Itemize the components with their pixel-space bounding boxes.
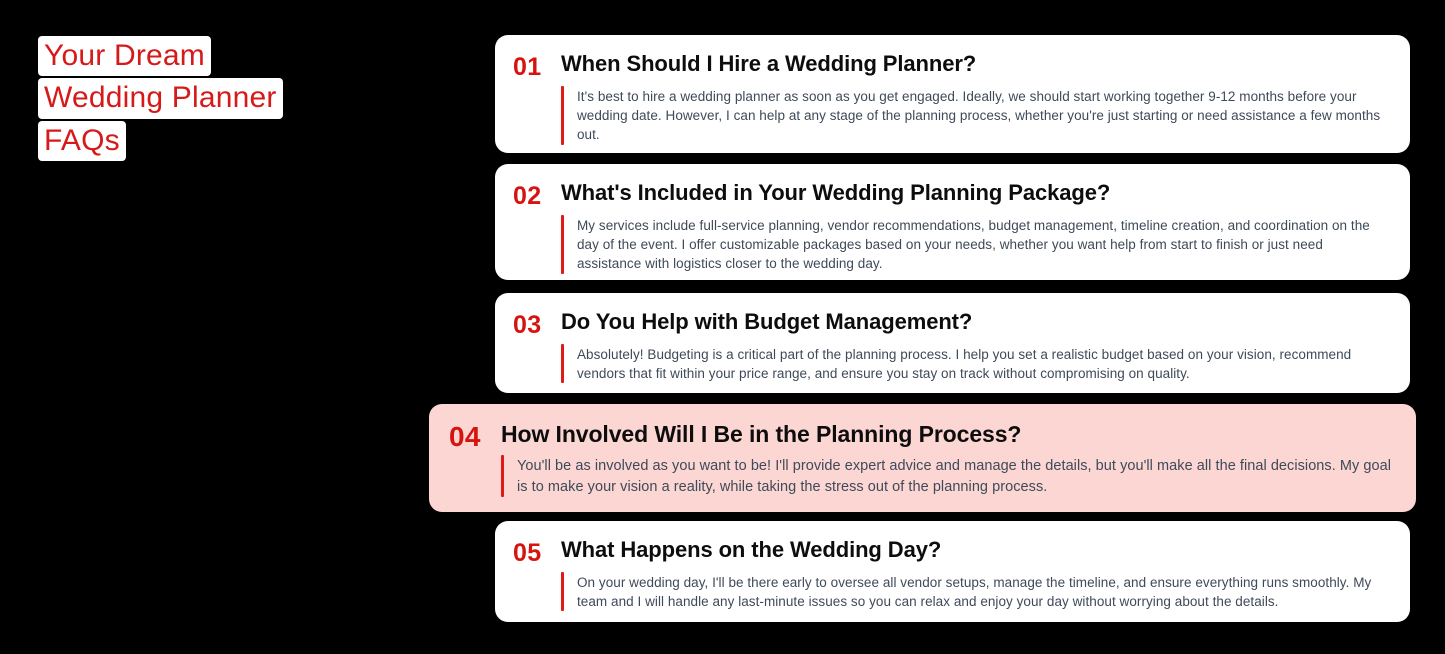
faq-answer: It's best to hire a wedding planner as s… (577, 86, 1388, 145)
faq-item-04[interactable]: 04 How Involved Will I Be in the Plannin… (429, 404, 1416, 512)
accent-bar-icon (561, 86, 564, 145)
faq-answer: Absolutely! Budgeting is a critical part… (577, 344, 1388, 384)
accent-bar-icon (561, 344, 564, 384)
faq-question[interactable]: When Should I Hire a Wedding Planner? (561, 51, 1388, 78)
faq-item-03[interactable]: 03 Do You Help with Budget Management? A… (495, 293, 1410, 393)
faq-question[interactable]: How Involved Will I Be in the Planning P… (501, 420, 1392, 448)
faq-item-01[interactable]: 01 When Should I Hire a Wedding Planner?… (495, 35, 1410, 153)
faq-item-02[interactable]: 02 What's Included in Your Wedding Plann… (495, 164, 1410, 280)
faq-answer-wrap: You'll be as involved as you want to be!… (501, 455, 1392, 497)
faq-answer: On your wedding day, I'll be there early… (577, 572, 1388, 612)
faq-number: 02 (513, 180, 561, 209)
faq-content: How Involved Will I Be in the Planning P… (501, 420, 1392, 497)
accent-bar-icon (501, 455, 504, 497)
faq-answer: You'll be as involved as you want to be!… (517, 455, 1392, 497)
faq-number: 04 (449, 420, 501, 451)
faq-question[interactable]: Do You Help with Budget Management? (561, 309, 1388, 336)
faq-item-05[interactable]: 05 What Happens on the Wedding Day? On y… (495, 521, 1410, 622)
faq-answer-wrap: It's best to hire a wedding planner as s… (561, 86, 1388, 145)
faq-list: 01 When Should I Hire a Wedding Planner?… (0, 0, 1445, 654)
faq-number: 01 (513, 51, 561, 80)
faq-content: When Should I Hire a Wedding Planner? It… (561, 51, 1388, 145)
faq-answer-wrap: Absolutely! Budgeting is a critical part… (561, 344, 1388, 384)
faq-number: 03 (513, 309, 561, 338)
faq-content: Do You Help with Budget Management? Abso… (561, 309, 1388, 383)
faq-answer: My services include full-service plannin… (577, 215, 1388, 274)
faq-question[interactable]: What's Included in Your Wedding Planning… (561, 180, 1388, 207)
faq-number: 05 (513, 537, 561, 566)
faq-answer-wrap: On your wedding day, I'll be there early… (561, 572, 1388, 612)
accent-bar-icon (561, 215, 564, 274)
faq-answer-wrap: My services include full-service plannin… (561, 215, 1388, 274)
accent-bar-icon (561, 572, 564, 612)
faq-question[interactable]: What Happens on the Wedding Day? (561, 537, 1388, 564)
faq-content: What's Included in Your Wedding Planning… (561, 180, 1388, 274)
faq-content: What Happens on the Wedding Day? On your… (561, 537, 1388, 611)
